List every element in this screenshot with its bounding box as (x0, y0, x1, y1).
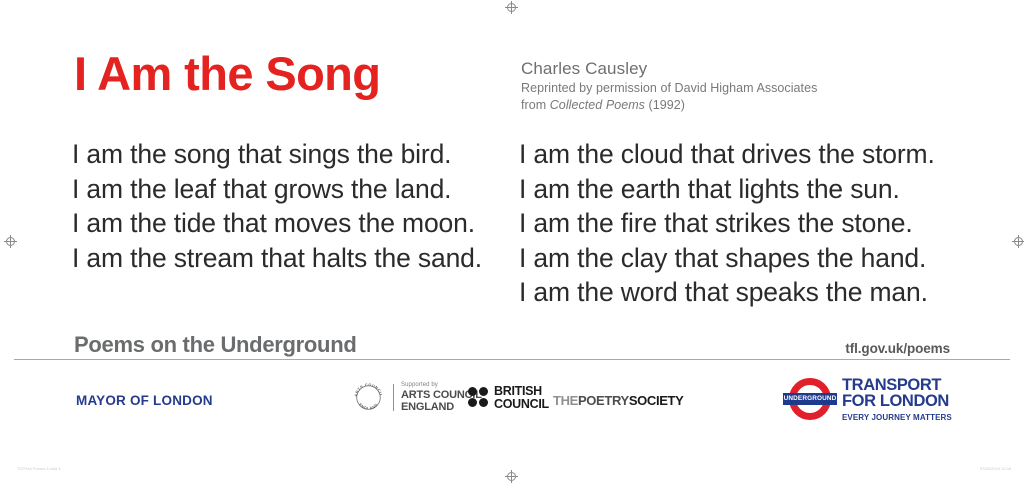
print-timestamp: 07/05/2018 12:08 (980, 466, 1011, 471)
registration-mark-left-icon (4, 235, 17, 248)
british-council-name-line2: COUNCIL (494, 398, 549, 411)
poem-title: I Am the Song (74, 48, 380, 100)
registration-mark-right-icon (1012, 235, 1024, 248)
poem-line: I am the word that speaks the man. (519, 275, 935, 310)
poetry-society-logo: THEPOETRYSOCIETY (553, 393, 683, 408)
british-council-name-line1: BRITISH (494, 385, 549, 398)
programme-name: Poems on the Underground (74, 332, 356, 358)
poem-author: Charles Causley (521, 58, 941, 80)
tfl-name-line2: FOR LONDON (842, 393, 952, 410)
poem-left-column: I am the song that sings the bird. I am … (72, 137, 482, 275)
poem-line: I am the leaf that grows the land. (72, 172, 482, 207)
source-title: Collected Poems (550, 98, 645, 112)
source-note: from Collected Poems (1992) (521, 97, 941, 114)
tfl-tagline: EVERY JOURNEY MATTERS (842, 414, 952, 422)
mayor-of-london-logo: MAYOR OF LONDON (76, 393, 213, 408)
british-council-wordmark: BRITISH COUNCIL (494, 385, 549, 410)
roundel-bar: UNDERGROUND (783, 393, 837, 405)
british-council-dots-icon (468, 387, 489, 408)
source-prefix: from (521, 98, 546, 112)
svg-text:ENGLAND: ENGLAND (358, 403, 379, 411)
print-job-reference: TCP046 Poems 4.indd 4 (17, 466, 61, 471)
poster-canvas: I Am the Song Charles Causley Reprinted … (0, 0, 1024, 484)
registration-mark-top-icon (505, 1, 518, 14)
roundel-label: UNDERGROUND (784, 396, 837, 402)
permission-note: Reprinted by permission of David Higham … (521, 80, 941, 97)
arts-council-seal-icon: ARTS COUNCIL ENGLAND (352, 381, 385, 414)
poem-line: I am the fire that strikes the stone. (519, 206, 935, 241)
poem-line: I am the song that sings the bird. (72, 137, 482, 172)
british-council-logo: BRITISH COUNCIL (468, 385, 549, 410)
registration-mark-bottom-icon (505, 470, 518, 483)
source-year: (1992) (649, 98, 685, 112)
transport-for-london-logo: UNDERGROUND TRANSPORT FOR LONDON EVERY J… (787, 376, 952, 422)
poem-line: I am the earth that lights the sun. (519, 172, 935, 207)
poetry-society-part2: POETRY (578, 393, 629, 408)
arts-council-divider (393, 384, 394, 411)
svg-text:ARTS COUNCIL: ARTS COUNCIL (354, 383, 383, 397)
poem-line: I am the cloud that drives the storm. (519, 137, 935, 172)
credit-block: Charles Causley Reprinted by permission … (521, 58, 941, 114)
tfl-wordmark: TRANSPORT FOR LONDON EVERY JOURNEY MATTE… (842, 377, 952, 422)
website-url[interactable]: tfl.gov.uk/poems (845, 341, 950, 356)
poetry-society-part1: THE (553, 393, 578, 408)
poem-right-column: I am the cloud that drives the storm. I … (519, 137, 935, 310)
tfl-name-line1: TRANSPORT (842, 377, 952, 394)
underground-roundel-icon: UNDERGROUND (787, 376, 833, 422)
poem-line: I am the clay that shapes the hand. (519, 241, 935, 276)
arts-council-england-logo: ARTS COUNCIL ENGLAND Supported by ARTS C… (352, 381, 482, 414)
poetry-society-part3: SOCIETY (629, 393, 684, 408)
footer-divider (14, 359, 1010, 360)
poem-line: I am the tide that moves the moon. (72, 206, 482, 241)
poem-line: I am the stream that halts the sand. (72, 241, 482, 276)
